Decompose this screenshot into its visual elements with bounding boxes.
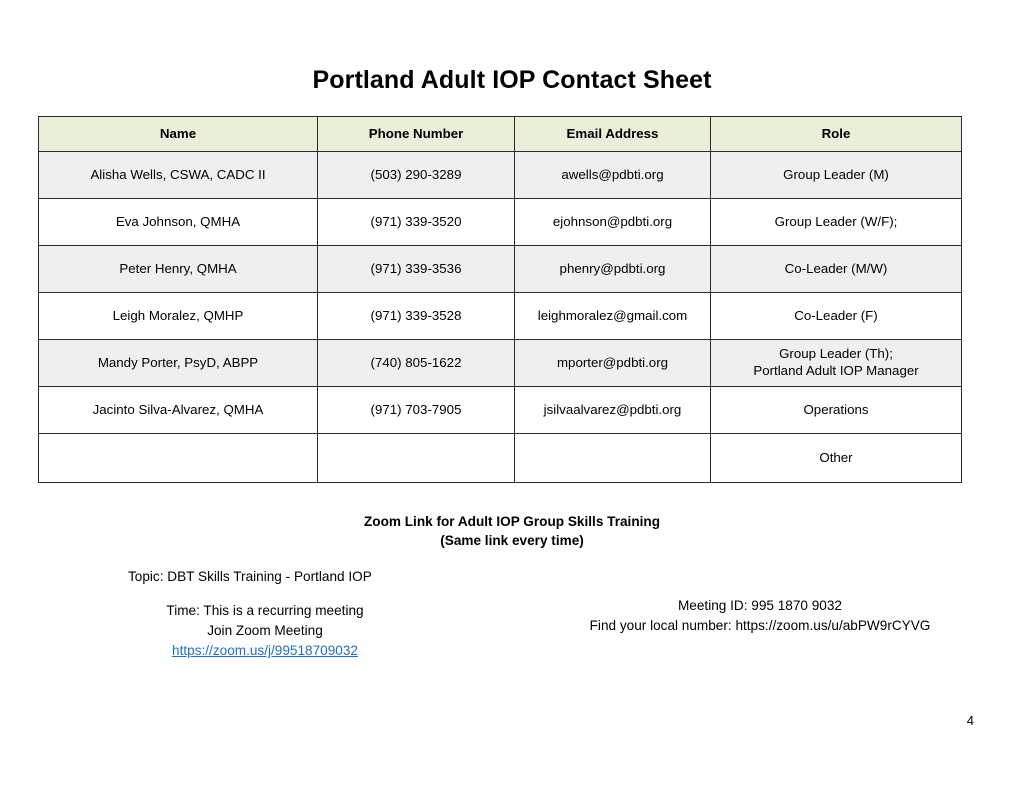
cell-name: Jacinto Silva-Alvarez, QMHA [39, 387, 318, 434]
zoom-heading-line-2: (Same link every time) [0, 531, 1024, 550]
zoom-details-left: Topic: DBT Skills Training - Portland IO… [60, 567, 480, 661]
contact-table: Name Phone Number Email Address Role Ali… [38, 116, 962, 483]
cell-name: Eva Johnson, QMHA [39, 199, 318, 246]
cell-phone: (971) 339-3536 [318, 246, 515, 293]
cell-phone [318, 434, 515, 483]
zoom-time: Time: This is a recurring meeting [60, 601, 470, 621]
table-row: Jacinto Silva-Alvarez, QMHA (971) 703-79… [39, 387, 962, 434]
table-row: Alisha Wells, CSWA, CADC II (503) 290-32… [39, 152, 962, 199]
cell-role: Group Leader (W/F); [711, 199, 962, 246]
cell-phone: (503) 290-3289 [318, 152, 515, 199]
table-row: Mandy Porter, PsyD, ABPP (740) 805-1622 … [39, 340, 962, 387]
document-page: Portland Adult IOP Contact Sheet Name Ph… [0, 0, 1024, 791]
cell-role: Co-Leader (M/W) [711, 246, 962, 293]
cell-role: Other [711, 434, 962, 483]
zoom-local-number: Find your local number: https://zoom.us/… [540, 616, 980, 636]
table-row: Leigh Moralez, QMHP (971) 339-3528 leigh… [39, 293, 962, 340]
cell-email: jsilvaalvarez@pdbti.org [515, 387, 711, 434]
table-row: Eva Johnson, QMHA (971) 339-3520 ejohnso… [39, 199, 962, 246]
cell-email: leighmoralez@gmail.com [515, 293, 711, 340]
cell-name [39, 434, 318, 483]
cell-email: mporter@pdbti.org [515, 340, 711, 387]
cell-email: awells@pdbti.org [515, 152, 711, 199]
zoom-join-link[interactable]: https://zoom.us/j/99518709032 [172, 643, 358, 658]
column-header-email: Email Address [515, 117, 711, 152]
zoom-join-label: Join Zoom Meeting [60, 621, 470, 641]
zoom-time-block: Time: This is a recurring meeting Join Z… [60, 601, 480, 661]
cell-email: phenry@pdbti.org [515, 246, 711, 293]
page-number: 4 [967, 713, 974, 728]
zoom-section-heading: Zoom Link for Adult IOP Group Skills Tra… [0, 512, 1024, 551]
column-header-role: Role [711, 117, 962, 152]
cell-phone: (971) 339-3528 [318, 293, 515, 340]
cell-role: Group Leader (M) [711, 152, 962, 199]
table-body: Alisha Wells, CSWA, CADC II (503) 290-32… [39, 152, 962, 483]
cell-phone: (971) 339-3520 [318, 199, 515, 246]
cell-role-line-1: Group Leader (Th); [779, 346, 893, 361]
zoom-meeting-id: Meeting ID: 995 1870 9032 [540, 596, 980, 616]
zoom-heading-line-1: Zoom Link for Adult IOP Group Skills Tra… [364, 514, 660, 529]
cell-email: ejohnson@pdbti.org [515, 199, 711, 246]
cell-name: Mandy Porter, PsyD, ABPP [39, 340, 318, 387]
cell-email [515, 434, 711, 483]
cell-name: Leigh Moralez, QMHP [39, 293, 318, 340]
zoom-topic: Topic: DBT Skills Training - Portland IO… [60, 567, 480, 587]
cell-phone: (740) 805-1622 [318, 340, 515, 387]
cell-role: Operations [711, 387, 962, 434]
cell-role-line-2: Portland Adult IOP Manager [753, 363, 918, 378]
cell-name: Alisha Wells, CSWA, CADC II [39, 152, 318, 199]
table-header: Name Phone Number Email Address Role [39, 117, 962, 152]
table-row: Other [39, 434, 962, 483]
column-header-phone: Phone Number [318, 117, 515, 152]
page-title: Portland Adult IOP Contact Sheet [0, 66, 1024, 95]
zoom-join-link-wrapper: https://zoom.us/j/99518709032 [60, 641, 470, 661]
cell-role: Co-Leader (F) [711, 293, 962, 340]
cell-role: Group Leader (Th); Portland Adult IOP Ma… [711, 340, 962, 387]
table-header-row: Name Phone Number Email Address Role [39, 117, 962, 152]
contact-table-container: Name Phone Number Email Address Role Ali… [38, 116, 961, 483]
zoom-details-right: Meeting ID: 995 1870 9032 Find your loca… [540, 596, 980, 636]
column-header-name: Name [39, 117, 318, 152]
cell-name: Peter Henry, QMHA [39, 246, 318, 293]
table-row: Peter Henry, QMHA (971) 339-3536 phenry@… [39, 246, 962, 293]
cell-phone: (971) 703-7905 [318, 387, 515, 434]
